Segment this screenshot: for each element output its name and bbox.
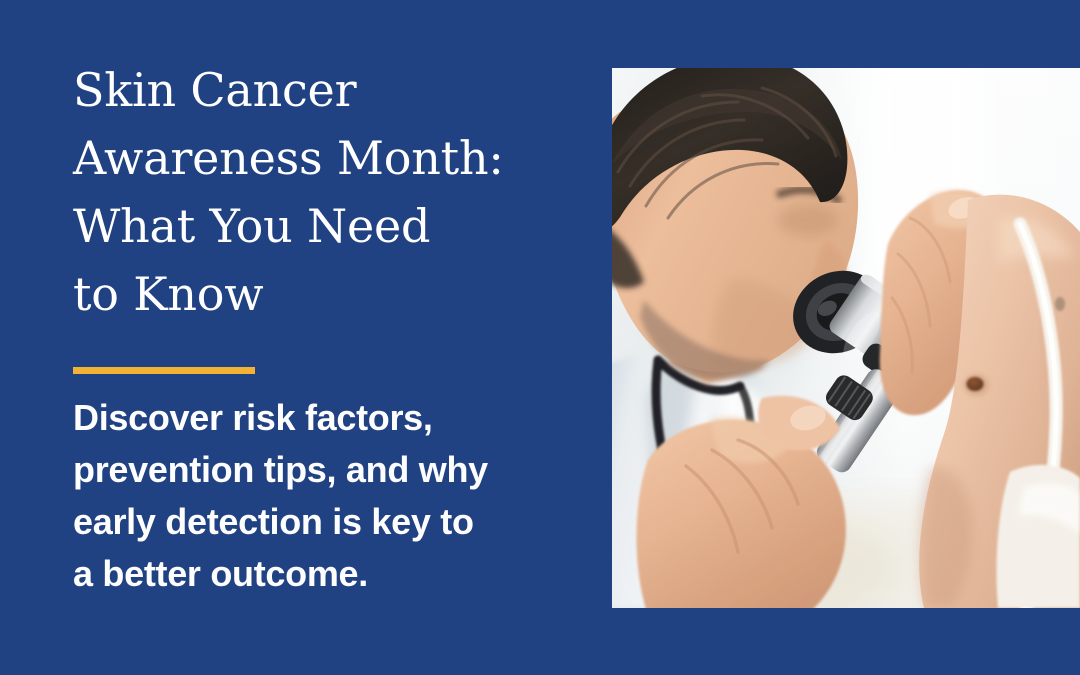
subtitle-line-4: a better outcome. (73, 548, 573, 600)
subtitle-line-3: early detection is key to (73, 496, 573, 548)
subtitle: Discover risk factors, prevention tips, … (73, 392, 573, 600)
gold-divider (73, 367, 255, 374)
headline-line-4: to Know (73, 260, 573, 328)
photo-illustration (612, 68, 1080, 608)
subtitle-line-1: Discover risk factors, (73, 392, 573, 444)
page-title: Skin Cancer Awareness Month: What You Ne… (73, 56, 573, 328)
skin-cancer-awareness-banner: Skin Cancer Awareness Month: What You Ne… (0, 0, 1080, 675)
subtitle-line-2: prevention tips, and why (73, 444, 573, 496)
doctor-examining-mole-photo (612, 68, 1080, 608)
headline-line-2: Awareness Month: (73, 124, 573, 192)
headline-line-1: Skin Cancer (73, 56, 573, 124)
headline-line-3: What You Need (73, 192, 573, 260)
text-column: Skin Cancer Awareness Month: What You Ne… (73, 0, 573, 675)
